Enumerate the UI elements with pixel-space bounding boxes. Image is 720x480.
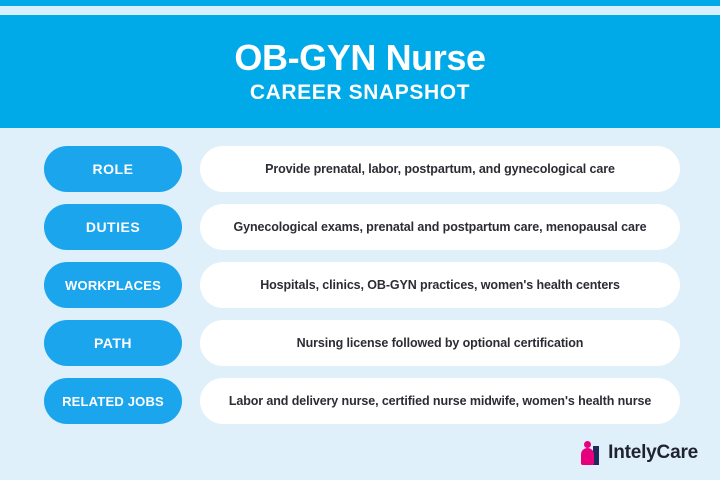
logo-dot-shape: [584, 441, 591, 448]
row-label-pill-role: ROLE: [44, 146, 182, 192]
snapshot-row-path: PATH Nursing license followed by optiona…: [0, 320, 720, 366]
brand-name: IntelyCare: [608, 442, 698, 464]
row-label-text: WORKPLACES: [65, 278, 161, 293]
row-label-pill-workplaces: WORKPLACES: [44, 262, 182, 308]
snapshot-row-duties: DUTIES Gynecological exams, prenatal and…: [0, 204, 720, 250]
snapshot-rows: ROLE Provide prenatal, labor, postpartum…: [0, 146, 720, 436]
row-label-pill-path: PATH: [44, 320, 182, 366]
row-value-card-workplaces: Hospitals, clinics, OB-GYN practices, wo…: [200, 262, 680, 308]
snapshot-row-workplaces: WORKPLACES Hospitals, clinics, OB-GYN pr…: [0, 262, 720, 308]
row-label-text: PATH: [94, 335, 132, 351]
row-label-text: RELATED JOBS: [62, 394, 164, 409]
page-title: OB-GYN Nurse: [234, 39, 485, 77]
brand-logo: IntelyCare: [580, 440, 698, 466]
intelycare-logo-icon: [580, 441, 601, 465]
header-banner: OB-GYN Nurse CAREER SNAPSHOT: [0, 15, 720, 128]
page-subtitle: CAREER SNAPSHOT: [250, 82, 470, 104]
snapshot-row-related-jobs: RELATED JOBS Labor and delivery nurse, c…: [0, 378, 720, 424]
career-snapshot-infographic: OB-GYN Nurse CAREER SNAPSHOT ROLE Provid…: [0, 0, 720, 480]
row-label-pill-duties: DUTIES: [44, 204, 182, 250]
top-light-stripe: [0, 6, 720, 15]
row-value-card-role: Provide prenatal, labor, postpartum, and…: [200, 146, 680, 192]
row-value-card-related-jobs: Labor and delivery nurse, certified nurs…: [200, 378, 680, 424]
row-label-text: ROLE: [93, 161, 134, 177]
row-value-card-duties: Gynecological exams, prenatal and postpa…: [200, 204, 680, 250]
row-label-text: DUTIES: [86, 219, 140, 235]
row-label-pill-related-jobs: RELATED JOBS: [44, 378, 182, 424]
row-value-text: Provide prenatal, labor, postpartum, and…: [265, 162, 615, 176]
logo-bar-shape: [593, 446, 599, 465]
row-value-text: Nursing license followed by optional cer…: [297, 336, 584, 350]
row-value-text: Hospitals, clinics, OB-GYN practices, wo…: [260, 278, 620, 292]
row-value-text: Labor and delivery nurse, certified nurs…: [229, 394, 651, 408]
logo-body-shape: [581, 448, 594, 465]
snapshot-row-role: ROLE Provide prenatal, labor, postpartum…: [0, 146, 720, 192]
row-value-text: Gynecological exams, prenatal and postpa…: [234, 220, 647, 234]
row-value-card-path: Nursing license followed by optional cer…: [200, 320, 680, 366]
